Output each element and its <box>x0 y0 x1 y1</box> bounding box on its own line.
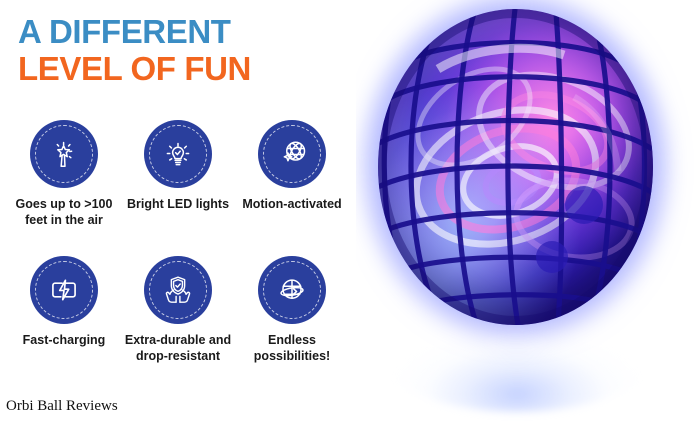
headline-line-2: LEVEL OF FUN <box>18 50 348 87</box>
magic-wand-icon <box>45 135 83 173</box>
flying-orb-ball-icon <box>378 9 653 325</box>
feature-grid: Goes up to >100 feet in the air <box>7 120 349 364</box>
page-title: A DIFFERENT LEVEL OF FUN <box>18 13 348 87</box>
feature-label: Motion-activated <box>236 197 348 213</box>
feature-label: Fast-charging <box>8 333 120 349</box>
shield-hands-icon <box>159 271 197 309</box>
feature-item-fast-charging: Fast-charging <box>7 256 121 364</box>
feature-badge <box>258 120 326 188</box>
feature-badge <box>144 120 212 188</box>
orbit-globe-icon <box>273 271 311 309</box>
product-image <box>356 0 696 433</box>
left-content-panel: A DIFFERENT LEVEL OF FUN <box>0 0 356 433</box>
feature-item-bright-led-lights: Bright LED lights <box>121 120 235 228</box>
feature-badge <box>30 120 98 188</box>
feature-label: Endless possibilities! <box>236 333 348 364</box>
feature-badge <box>258 256 326 324</box>
lightbulb-check-icon <box>159 135 197 173</box>
feature-item-endless-possibilities: Endless possibilities! <box>235 256 349 364</box>
promo-banner: A DIFFERENT LEVEL OF FUN <box>0 0 696 433</box>
feature-label: Bright LED lights <box>122 197 234 213</box>
feature-item-goes-up-to-100-feet: Goes up to >100 feet in the air <box>7 120 121 228</box>
feature-badge <box>144 256 212 324</box>
feature-item-motion-activated: Motion-activated <box>235 120 349 228</box>
feature-badge <box>30 256 98 324</box>
source-caption: Orbi Ball Reviews <box>6 398 118 415</box>
product-reflection <box>386 300 648 412</box>
headline-line-1: A DIFFERENT <box>18 13 348 50</box>
battery-bolt-icon <box>45 271 83 309</box>
feature-label: Extra-durable and drop-resistant <box>122 333 234 364</box>
motion-globe-icon <box>273 135 311 173</box>
feature-item-extra-durable: Extra-durable and drop-resistant <box>121 256 235 364</box>
feature-label: Goes up to >100 feet in the air <box>8 197 120 228</box>
